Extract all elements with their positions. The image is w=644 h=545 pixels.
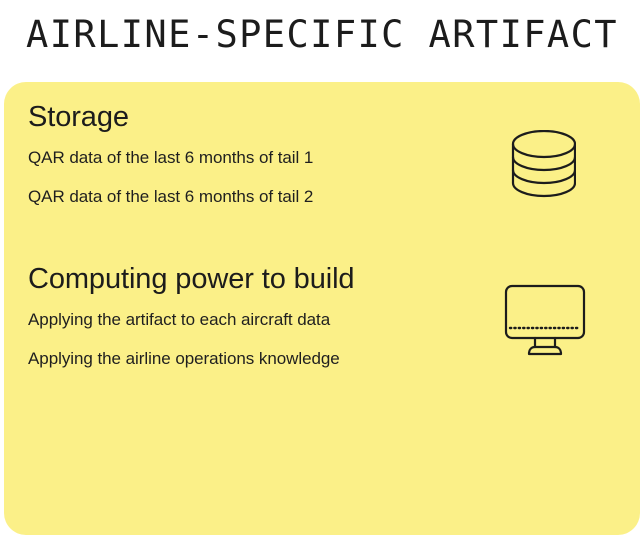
list-item: QAR data of the last 6 months of tail 1 xyxy=(28,148,313,168)
list-item: QAR data of the last 6 months of tail 2 xyxy=(28,187,313,207)
section-heading-computing: Computing power to build xyxy=(28,262,354,297)
list-item: Applying the artifact to each aircraft d… xyxy=(28,310,340,330)
section-heading-storage: Storage xyxy=(28,100,129,135)
database-icon xyxy=(504,130,576,206)
monitor-icon xyxy=(499,280,591,360)
page-title: AIRLINE-SPECIFIC ARTIFACT xyxy=(0,14,644,57)
list-item: Applying the airline operations knowledg… xyxy=(28,349,340,369)
section-items-computing: Applying the artifact to each aircraft d… xyxy=(28,310,340,370)
section-items-storage: QAR data of the last 6 months of tail 1 … xyxy=(28,148,313,208)
artifact-card: Storage QAR data of the last 6 months of… xyxy=(4,82,640,535)
